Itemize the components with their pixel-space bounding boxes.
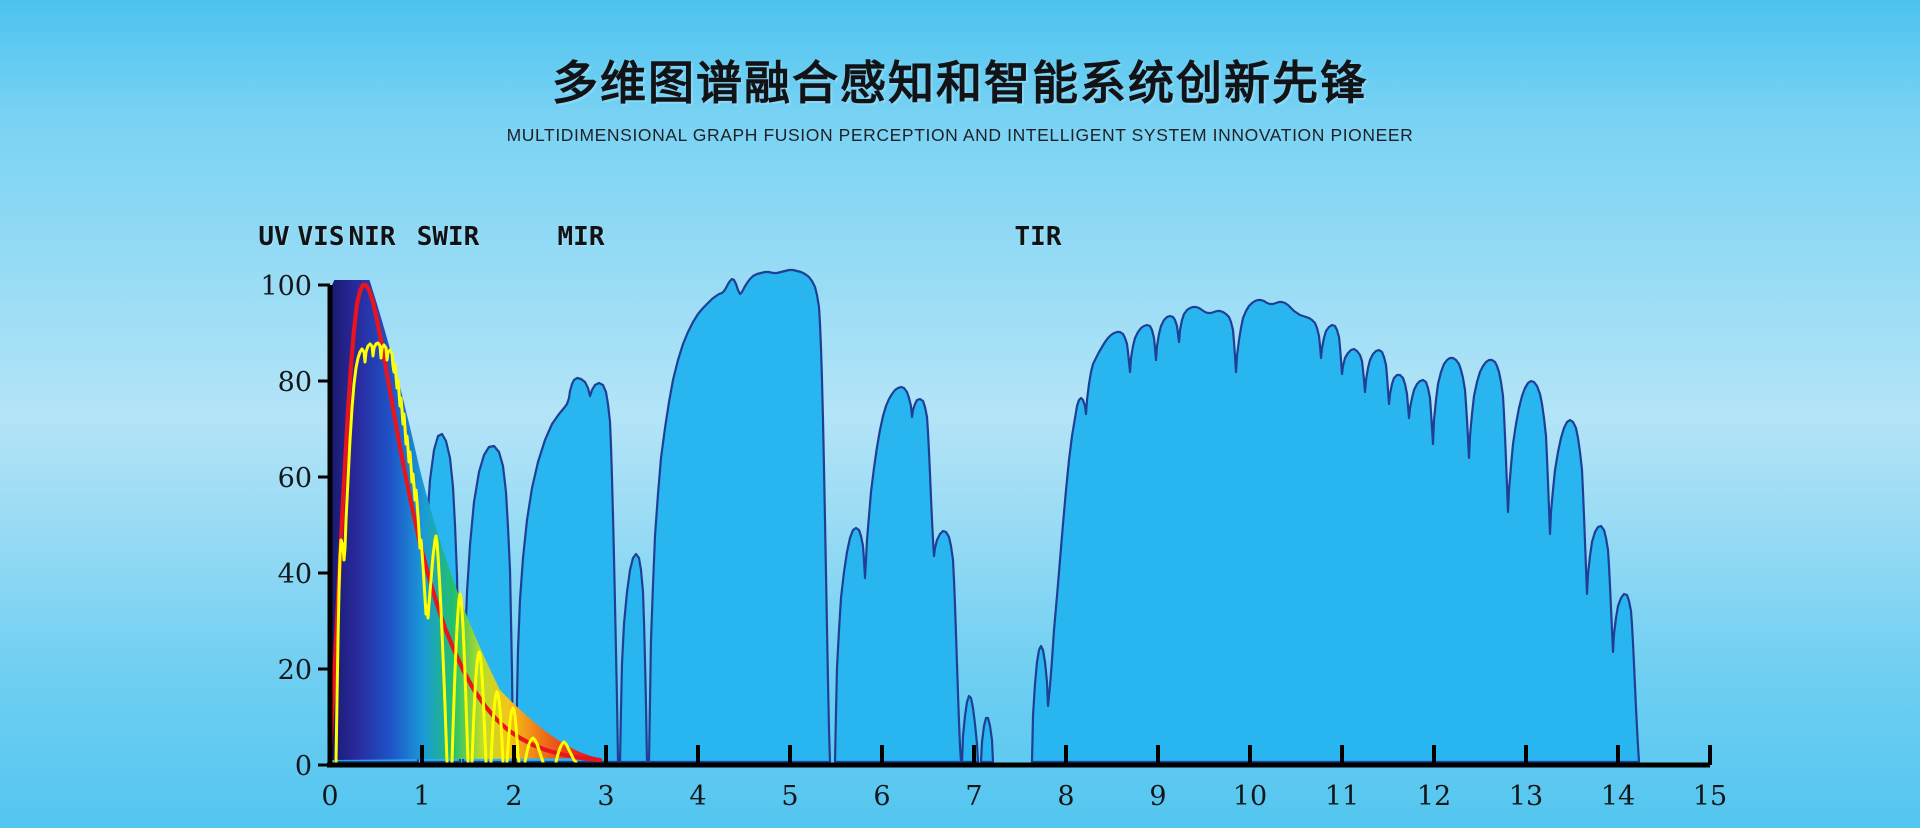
x-tick-11: 11 [1325, 781, 1359, 812]
x-axis-tick-labels: 0 1 2 3 4 5 6 7 8 9 10 11 12 13 14 15 [321, 781, 1727, 812]
x-tick-12: 12 [1417, 781, 1451, 812]
x-tick-5: 5 [781, 781, 798, 812]
x-tick-3: 3 [597, 781, 614, 812]
x-tick-8: 8 [1057, 781, 1074, 812]
x-tick-13: 13 [1509, 781, 1543, 812]
y-tick-80: 80 [278, 367, 312, 398]
y-axis-tick-labels: 0 20 40 60 80 100 [260, 271, 312, 782]
atmospheric-transmission-area [335, 270, 1639, 762]
x-tick-15: 15 [1693, 781, 1727, 812]
x-tick-6: 6 [873, 781, 890, 812]
y-tick-60: 60 [278, 463, 312, 494]
y-tick-0: 0 [295, 751, 312, 782]
x-tick-4: 4 [689, 781, 706, 812]
y-tick-100: 100 [260, 271, 312, 302]
spectral-transmission-chart: 0 20 40 60 80 100 0 1 2 3 4 5 6 7 8 9 10… [0, 0, 1920, 828]
x-tick-14: 14 [1601, 781, 1635, 812]
x-tick-1: 1 [413, 781, 430, 812]
x-tick-2: 2 [505, 781, 522, 812]
x-tick-7: 7 [965, 781, 982, 812]
x-tick-10: 10 [1233, 781, 1267, 812]
x-tick-0: 0 [321, 781, 338, 812]
y-tick-20: 20 [278, 655, 312, 686]
x-tick-9: 9 [1149, 781, 1166, 812]
y-tick-40: 40 [278, 559, 312, 590]
